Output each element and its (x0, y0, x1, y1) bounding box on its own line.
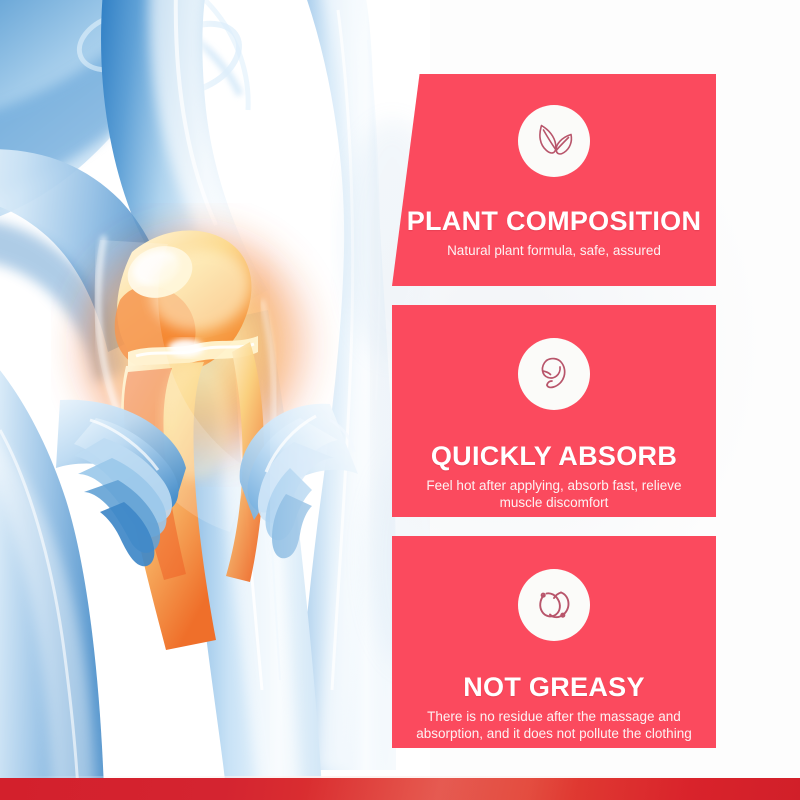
flexed-bicep-icon (518, 338, 590, 410)
feature-card-list: PLANT COMPOSITION Natural plant formula,… (0, 0, 800, 800)
card-description: Natural plant formula, safe, assured (408, 242, 700, 259)
infographic-canvas: PLANT COMPOSITION Natural plant formula,… (0, 0, 800, 800)
card-description: Feel hot after applying, absorb fast, re… (408, 477, 700, 511)
feature-card-quickly-absorb[interactable]: QUICKLY ABSORB Feel hot after applying, … (392, 305, 716, 517)
card-description: There is no residue after the massage an… (408, 708, 700, 742)
card-title: PLANT COMPOSITION (392, 206, 716, 237)
bottom-accent-bar (0, 778, 800, 800)
card-title: NOT GREASY (392, 672, 716, 703)
feature-card-not-greasy[interactable]: NOT GREASY There is no residue after the… (392, 536, 716, 748)
bottom-bar-sheen (0, 778, 800, 800)
card-title: QUICKLY ABSORB (392, 441, 716, 472)
leaf-icon (518, 105, 590, 177)
feature-card-plant-composition[interactable]: PLANT COMPOSITION Natural plant formula,… (392, 74, 716, 286)
swirl-droplet-icon (518, 569, 590, 641)
